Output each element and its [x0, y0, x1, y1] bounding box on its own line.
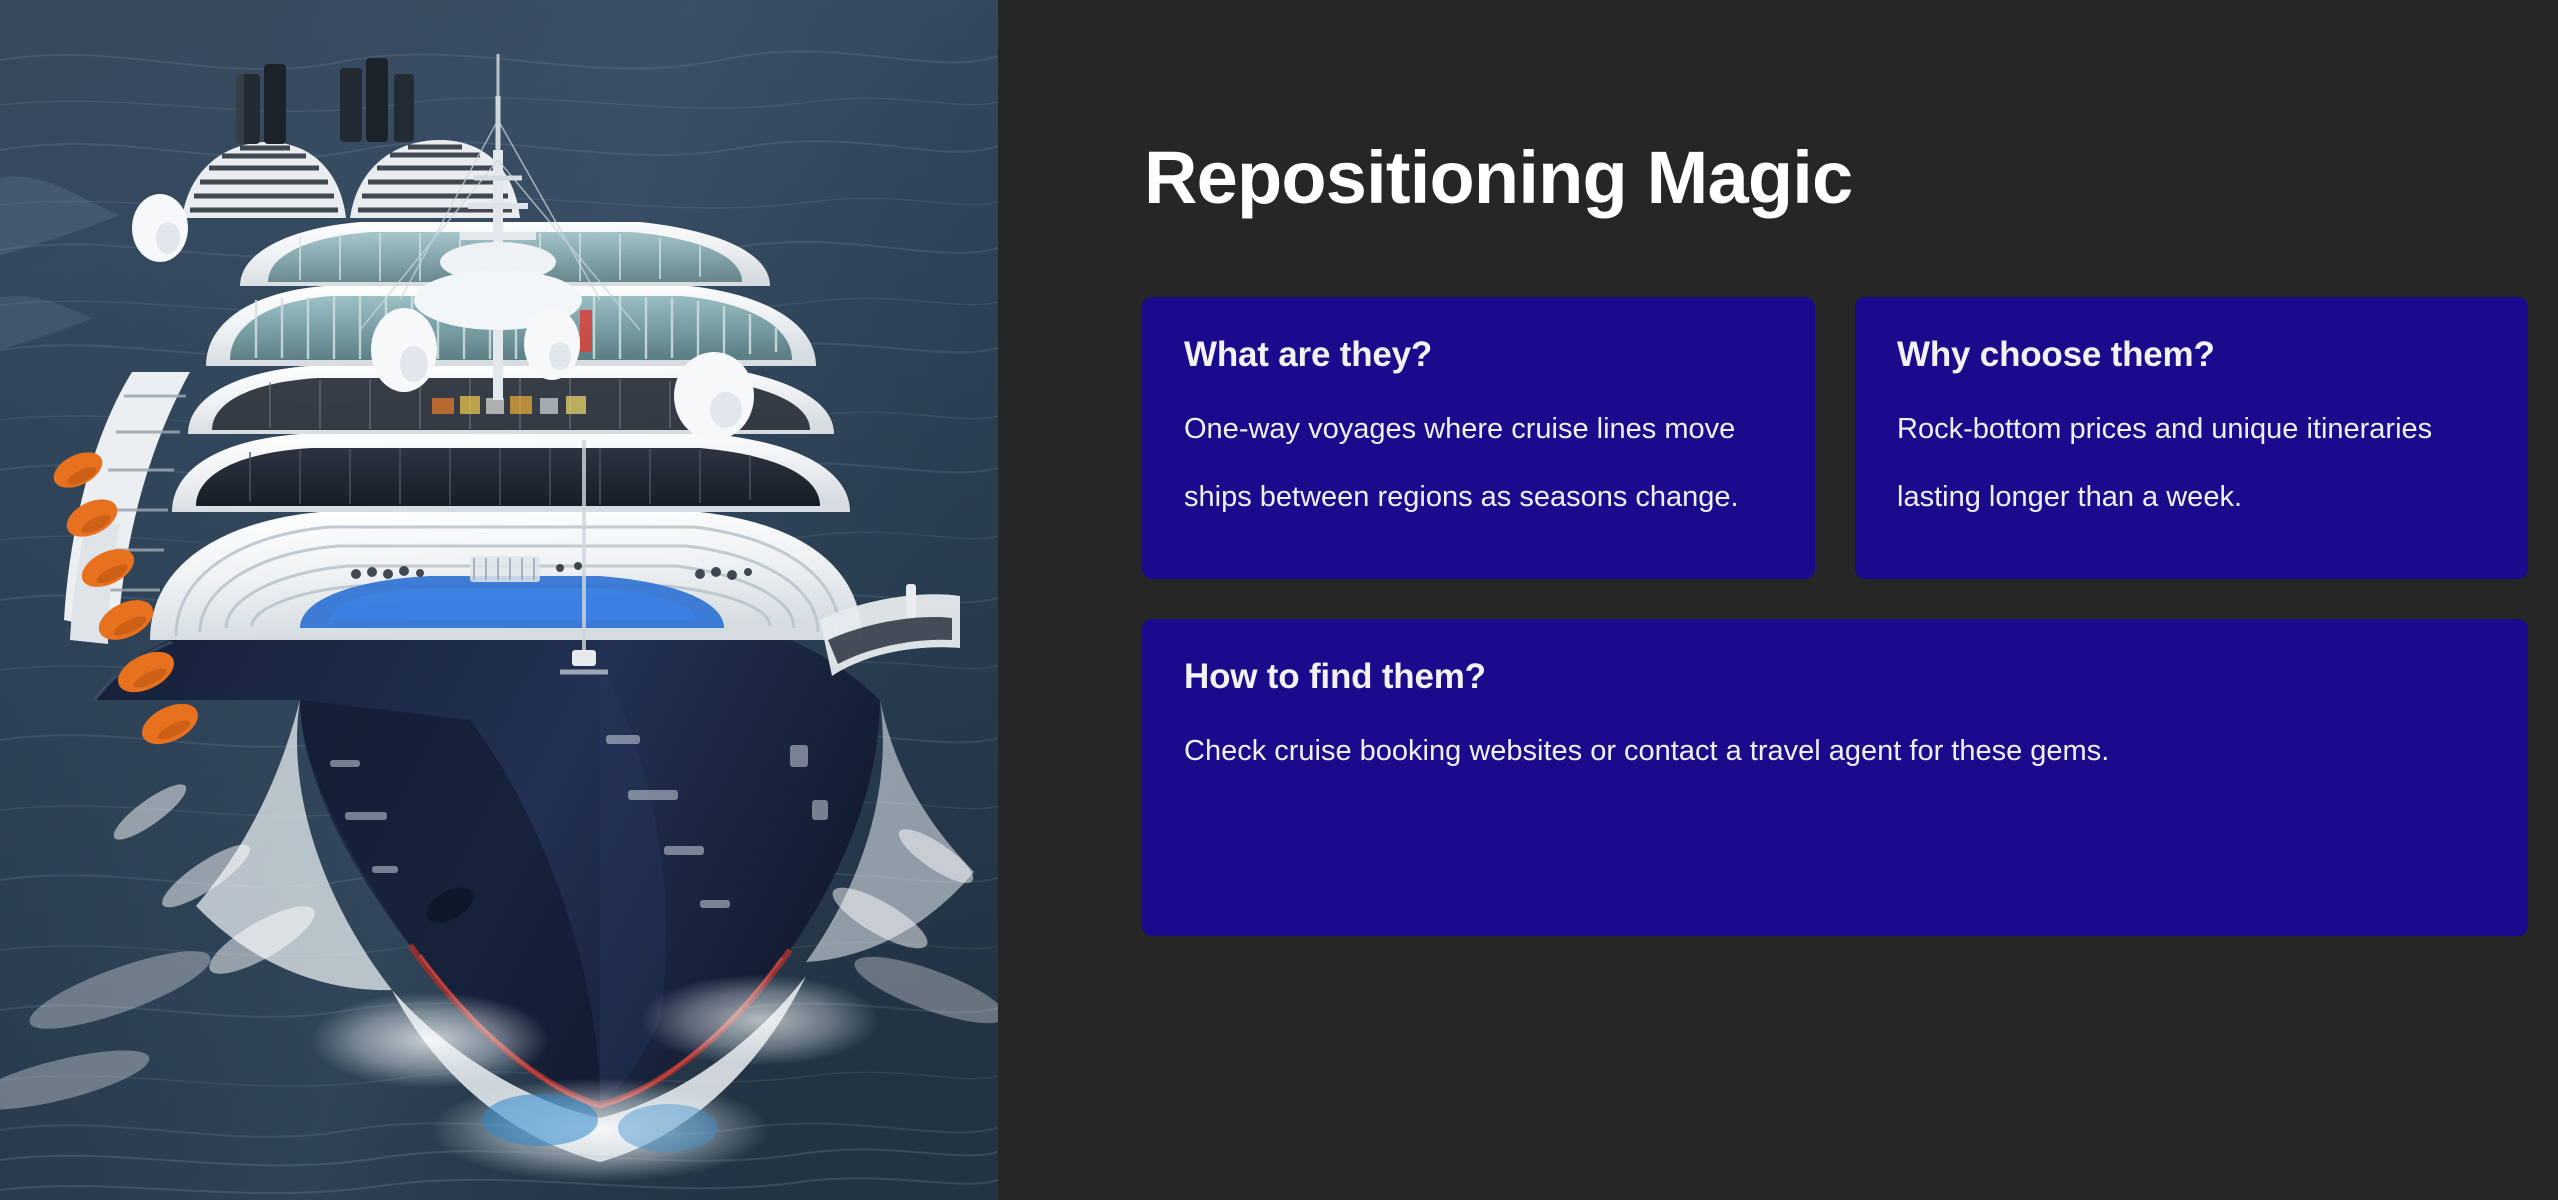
content-panel: Repositioning Magic What are they? One-w… [998, 0, 2558, 1200]
info-card-body: Check cruise booking websites or contact… [1184, 717, 2486, 785]
cruise-ship-photo [0, 0, 998, 1200]
slide-root: Repositioning Magic What are they? One-w… [0, 0, 2558, 1200]
info-card-title: What are they? [1184, 333, 1773, 377]
info-card-body: Rock-bottom prices and unique itinerarie… [1897, 395, 2486, 531]
info-card-body: One-way voyages where cruise lines move … [1184, 395, 1773, 531]
info-card-title: Why choose them? [1897, 333, 2486, 377]
info-card-what-are-they[interactable]: What are they? One-way voyages where cru… [1142, 297, 1815, 579]
info-card-title: How to find them? [1184, 655, 2486, 699]
cruise-ship-illustration [0, 0, 998, 1200]
info-card-how-to-find-them[interactable]: How to find them? Check cruise booking w… [1142, 619, 2528, 936]
info-card-grid: What are they? One-way voyages where cru… [1142, 297, 2528, 936]
info-card-why-choose-them[interactable]: Why choose them? Rock-bottom prices and … [1855, 297, 2528, 579]
window-band-lower [196, 448, 820, 506]
page-title: Repositioning Magic [1144, 138, 1852, 218]
